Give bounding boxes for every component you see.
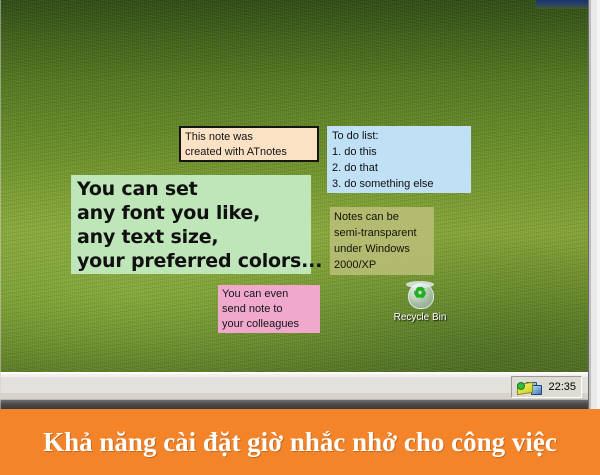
desktop-icon-label: Recycle Bin [389,312,451,324]
note-line: You can set [77,177,305,201]
note-line: any font you like, [77,201,305,225]
system-tray[interactable]: « 22:35 [511,376,582,398]
window-left-border [0,0,3,409]
recycle-bin-icon: ♻ [405,280,435,310]
note-line: 2. do that [332,160,466,176]
note-line: 3. do something else [332,176,466,192]
sticky-note-atnotes-intro[interactable]: This note was created with ATnotes [179,126,319,162]
sticky-note-fonts-colors[interactable]: You can set any font you like, any text … [71,175,311,274]
note-line: 2000/XP [334,257,430,273]
note-line: send note to [222,302,316,317]
note-line: To do list: [332,128,466,144]
recycle-arrows-icon: ♻ [413,286,427,302]
note-line: created with ATnotes [185,145,313,160]
atnotes-tray-icon[interactable] [517,380,532,394]
note-line: any text size, [77,225,305,249]
sky-strip [536,0,588,9]
desktop-icon-recycle-bin[interactable]: ♻ Recycle Bin [389,280,451,330]
note-line: Notes can be [334,209,430,225]
caption-text: Khả năng cài đặt giờ nhắc nhở cho công v… [43,427,557,458]
screenshot-root: This note was created with ATnotes To do… [0,0,600,475]
taskbar[interactable]: « 22:35 [0,372,588,400]
note-line: your preferred colors... [77,249,305,273]
note-line: under Windows [334,241,430,257]
sticky-note-send-colleagues[interactable]: You can even send note to your colleague… [218,285,320,333]
taskbar-clock[interactable]: 22:35 [546,382,577,393]
note-line: This note was [185,130,313,145]
sticky-note-todo-list[interactable]: To do list: 1. do this 2. do that 3. do … [327,126,471,193]
sticky-note-semi-transparent[interactable]: Notes can be semi-transparent under Wind… [330,207,434,275]
note-line: You can even [222,287,316,302]
note-line: your colleagues [222,317,316,332]
note-line: 1. do this [332,144,466,160]
note-line: semi-transparent [334,225,430,241]
desktop-wallpaper[interactable]: This note was created with ATnotes To do… [0,0,588,372]
window-right-border [588,0,600,409]
caption-bar: Khả năng cài đặt giờ nhắc nhở cho công v… [0,409,600,475]
window-bottom-shadow [0,400,588,409]
